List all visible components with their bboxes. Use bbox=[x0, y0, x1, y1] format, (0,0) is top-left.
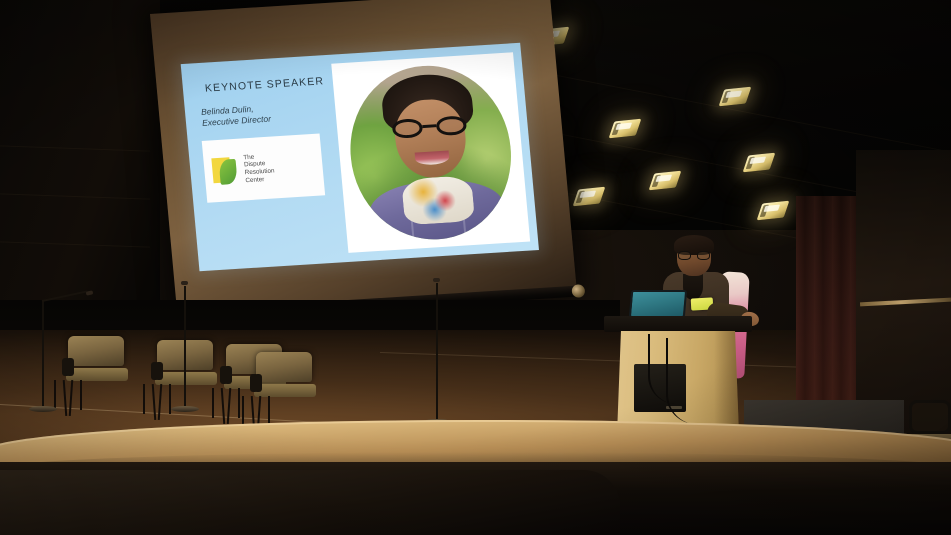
pit-front-wall bbox=[0, 470, 620, 535]
speaker-portrait-image bbox=[343, 61, 519, 244]
presentation-slide: KEYNOTE SPEAKER Belinda Dulin, Executive… bbox=[181, 43, 539, 272]
speaker-portrait-card bbox=[331, 52, 530, 253]
logo-wordmark: The Dispute Resolution Center bbox=[243, 152, 275, 184]
organization-logo-card: The Dispute Resolution Center bbox=[202, 134, 325, 203]
slide-kicker-text: KEYNOTE SPEAKER bbox=[204, 75, 324, 94]
audio-cable bbox=[666, 338, 702, 424]
projection-screen: KEYNOTE SPEAKER Belinda Dulin, Executive… bbox=[150, 0, 577, 313]
lectern-top-surface bbox=[604, 316, 752, 332]
logo-line-4: Center bbox=[245, 175, 275, 184]
slide-speaker-name: Belinda Dulin, Executive Director bbox=[201, 103, 272, 129]
leaf-logo-icon bbox=[211, 155, 240, 187]
stage-photo-scene: KEYNOTE SPEAKER Belinda Dulin, Executive… bbox=[0, 0, 951, 535]
left-wall bbox=[0, 0, 160, 330]
laptop-device bbox=[629, 290, 687, 318]
